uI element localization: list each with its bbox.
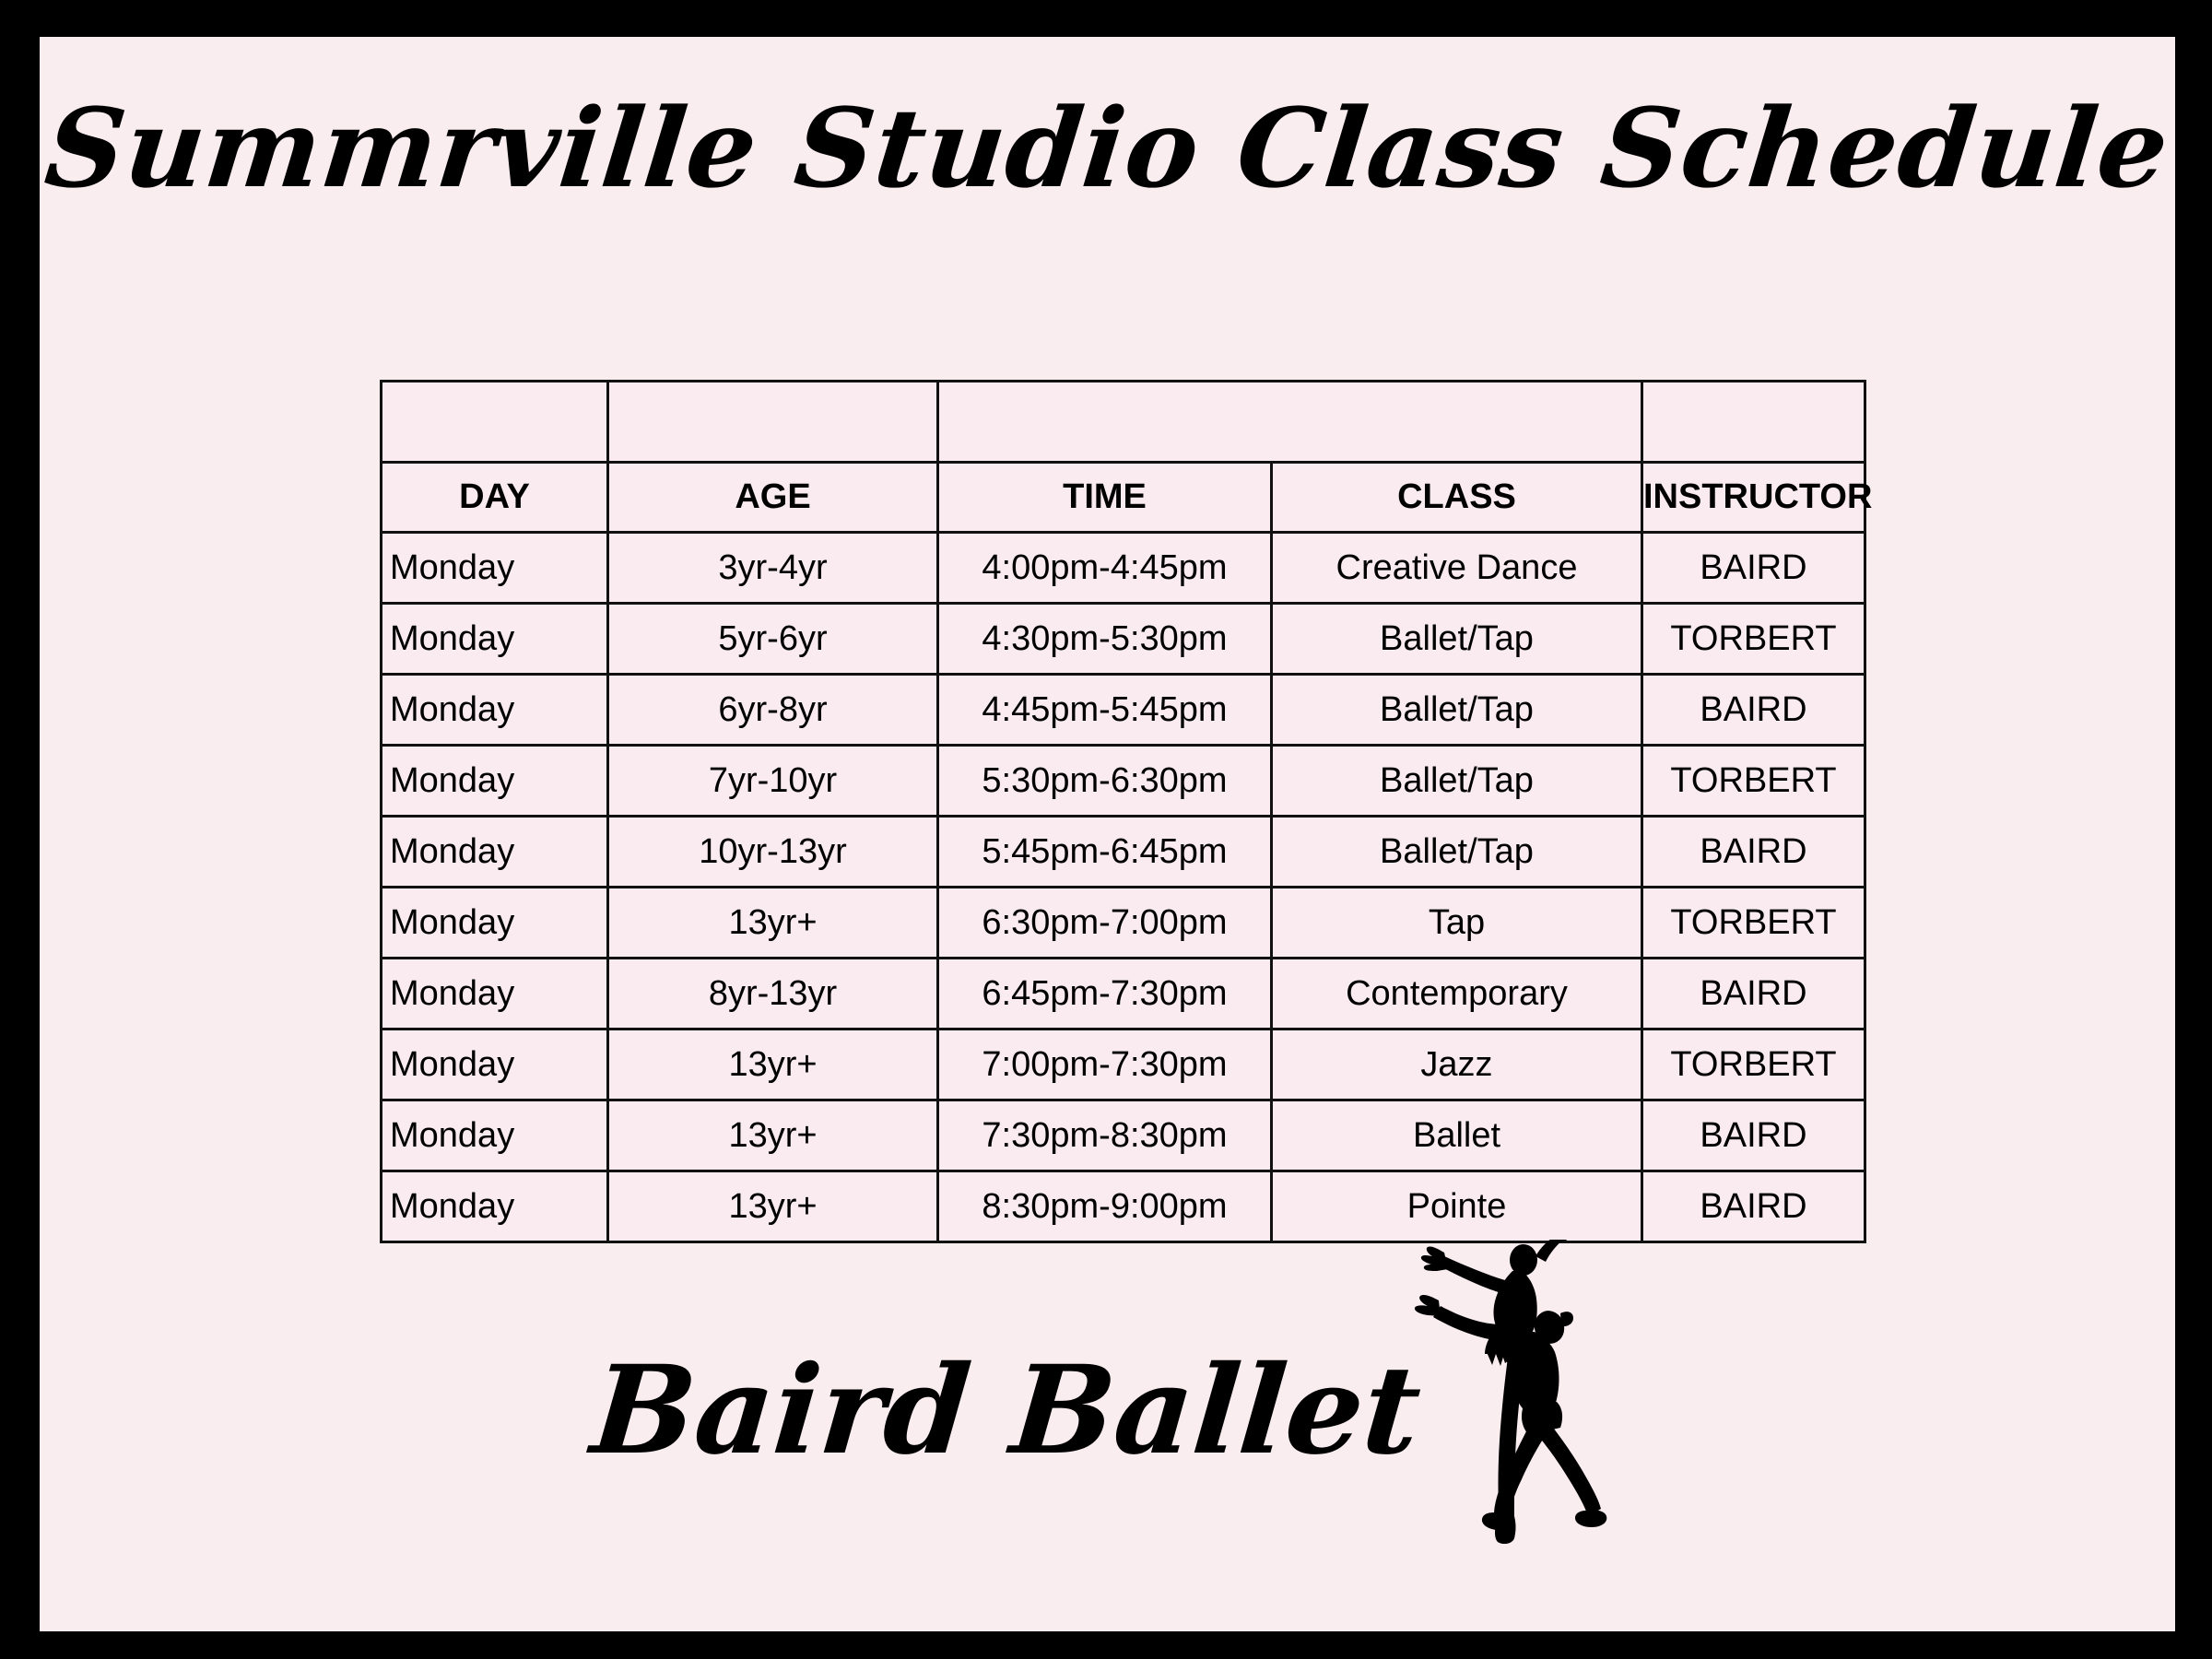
cell-age: 13yr+ xyxy=(608,1100,938,1171)
cell-class: Ballet/Tap xyxy=(1272,604,1642,675)
page-title: Summrville Studio Class Schedule xyxy=(34,94,2181,203)
cell-instructor: BAIRD xyxy=(1642,533,1865,604)
cell-instructor: TORBERT xyxy=(1642,1030,1865,1100)
poster-frame: Summrville Studio Class Schedule DAY AGE… xyxy=(0,0,2212,1659)
class-schedule-table: DAY AGE TIME CLASS INSTRUCTOR Monday 3yr… xyxy=(380,380,1866,1243)
spacer-cell-age xyxy=(608,382,938,463)
cell-day: Monday xyxy=(382,533,608,604)
cell-time: 6:45pm-7:30pm xyxy=(938,959,1272,1030)
cell-instructor: BAIRD xyxy=(1642,959,1865,1030)
cell-time: 5:45pm-6:45pm xyxy=(938,817,1272,888)
cell-instructor: BAIRD xyxy=(1642,817,1865,888)
table-row: Monday 8yr-13yr 6:45pm-7:30pm Contempora… xyxy=(382,959,1865,1030)
cell-class: Pointe xyxy=(1272,1171,1642,1242)
cell-age: 3yr-4yr xyxy=(608,533,938,604)
table-row: Monday 13yr+ 7:30pm-8:30pm Ballet BAIRD xyxy=(382,1100,1865,1171)
cell-age: 13yr+ xyxy=(608,1030,938,1100)
cell-class: Creative Dance xyxy=(1272,533,1642,604)
cell-age: 13yr+ xyxy=(608,888,938,959)
cell-time: 5:30pm-6:30pm xyxy=(938,746,1272,817)
cell-day: Monday xyxy=(382,1030,608,1100)
cell-instructor: BAIRD xyxy=(1642,1100,1865,1171)
brand-wordmark: Baird Ballet xyxy=(587,1350,1425,1472)
footer-logo: Baird Ballet xyxy=(40,1258,2175,1562)
table-row: Monday 5yr-6yr 4:30pm-5:30pm Ballet/Tap … xyxy=(382,604,1865,675)
cell-class: Tap xyxy=(1272,888,1642,959)
cell-day: Monday xyxy=(382,1171,608,1242)
table-row: Monday 13yr+ 6:30pm-7:00pm Tap TORBERT xyxy=(382,888,1865,959)
cell-time: 4:00pm-4:45pm xyxy=(938,533,1272,604)
table-row: Monday 10yr-13yr 5:45pm-6:45pm Ballet/Ta… xyxy=(382,817,1865,888)
cell-instructor: TORBERT xyxy=(1642,888,1865,959)
cell-age: 6yr-8yr xyxy=(608,675,938,746)
cell-instructor: TORBERT xyxy=(1642,604,1865,675)
column-header-instructor: INSTRUCTOR xyxy=(1642,463,1865,533)
cell-instructor: BAIRD xyxy=(1642,675,1865,746)
column-header-age: AGE xyxy=(608,463,938,533)
cell-class: Ballet/Tap xyxy=(1272,675,1642,746)
spacer-cell-day xyxy=(382,382,608,463)
table-row: Monday 7yr-10yr 5:30pm-6:30pm Ballet/Tap… xyxy=(382,746,1865,817)
column-header-class: CLASS xyxy=(1272,463,1642,533)
cell-age: 13yr+ xyxy=(608,1171,938,1242)
table-row: Monday 13yr+ 7:00pm-7:30pm Jazz TORBERT xyxy=(382,1030,1865,1100)
cell-age: 5yr-6yr xyxy=(608,604,938,675)
cell-time: 8:30pm-9:00pm xyxy=(938,1171,1272,1242)
cell-class: Ballet xyxy=(1272,1100,1642,1171)
cell-day: Monday xyxy=(382,1100,608,1171)
cell-time: 7:30pm-8:30pm xyxy=(938,1100,1272,1171)
poster-canvas: Summrville Studio Class Schedule DAY AGE… xyxy=(40,37,2175,1631)
spacer-cell-time-class xyxy=(938,382,1642,463)
cell-day: Monday xyxy=(382,675,608,746)
column-header-day: DAY xyxy=(382,463,608,533)
cell-class: Ballet/Tap xyxy=(1272,746,1642,817)
column-header-time: TIME xyxy=(938,463,1272,533)
table-row: Monday 6yr-8yr 4:45pm-5:45pm Ballet/Tap … xyxy=(382,675,1865,746)
cell-day: Monday xyxy=(382,959,608,1030)
table-row: Monday 13yr+ 8:30pm-9:00pm Pointe BAIRD xyxy=(382,1171,1865,1242)
cell-day: Monday xyxy=(382,888,608,959)
cell-instructor: TORBERT xyxy=(1642,746,1865,817)
cell-age: 8yr-13yr xyxy=(608,959,938,1030)
cell-day: Monday xyxy=(382,746,608,817)
cell-time: 4:45pm-5:45pm xyxy=(938,675,1272,746)
cell-time: 7:00pm-7:30pm xyxy=(938,1030,1272,1100)
ballet-dancers-silhouette-icon xyxy=(1413,1240,1616,1544)
cell-class: Contemporary xyxy=(1272,959,1642,1030)
table-spacer-row xyxy=(382,382,1865,463)
cell-age: 10yr-13yr xyxy=(608,817,938,888)
cell-class: Jazz xyxy=(1272,1030,1642,1100)
spacer-cell-instructor xyxy=(1642,382,1865,463)
table-header-row: DAY AGE TIME CLASS INSTRUCTOR xyxy=(382,463,1865,533)
cell-instructor: BAIRD xyxy=(1642,1171,1865,1242)
cell-time: 6:30pm-7:00pm xyxy=(938,888,1272,959)
cell-day: Monday xyxy=(382,604,608,675)
cell-age: 7yr-10yr xyxy=(608,746,938,817)
cell-day: Monday xyxy=(382,817,608,888)
cell-class: Ballet/Tap xyxy=(1272,817,1642,888)
cell-time: 4:30pm-5:30pm xyxy=(938,604,1272,675)
table-row: Monday 3yr-4yr 4:00pm-4:45pm Creative Da… xyxy=(382,533,1865,604)
